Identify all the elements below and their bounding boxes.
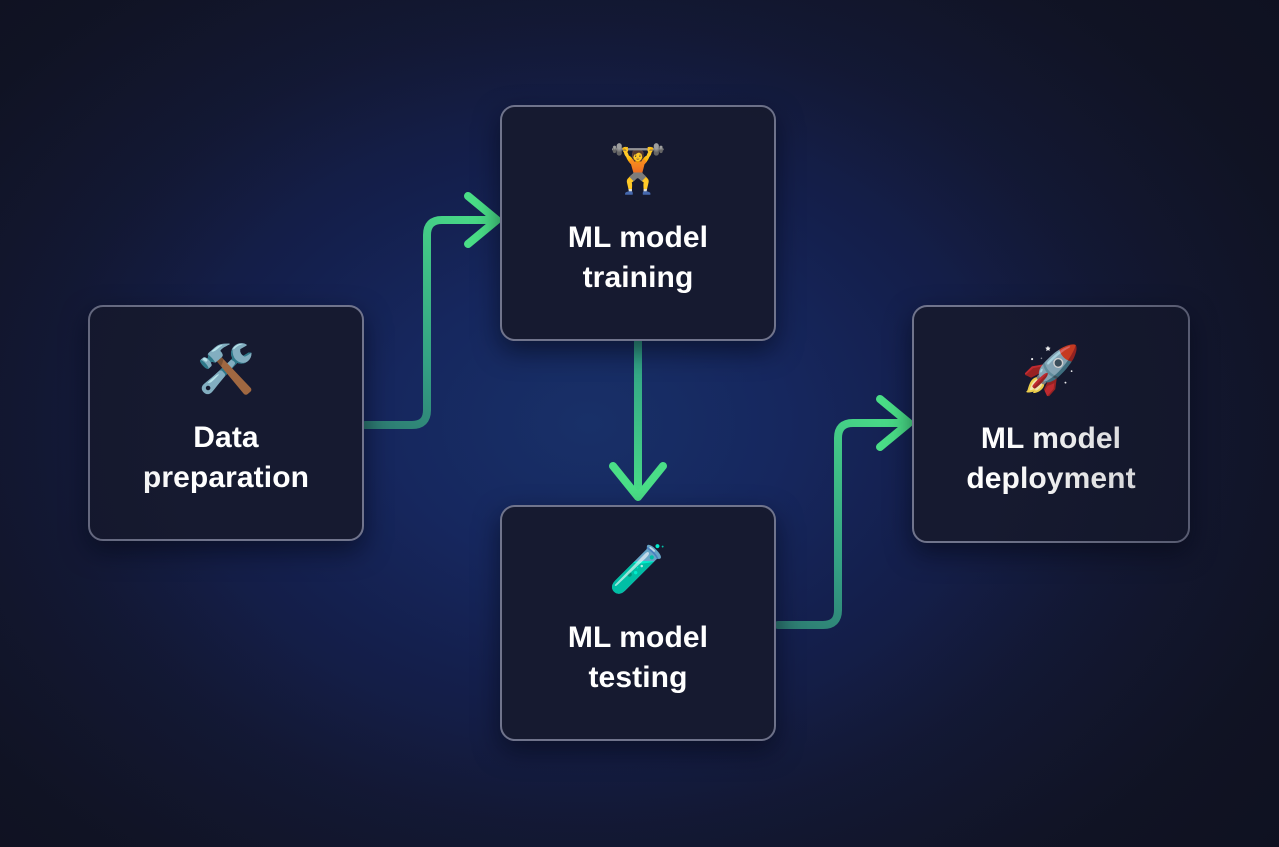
node-label: ML model training: [558, 218, 718, 298]
edge-prep-to-training: [365, 196, 497, 425]
hammer-and-wrench-icon: 🛠️: [197, 345, 256, 392]
weight-lifter-icon: 🏋️: [609, 145, 668, 192]
node-ml-model-testing[interactable]: 🧪 ML model testing: [500, 505, 776, 741]
rocket-icon: 🚀: [1022, 346, 1081, 393]
edge-testing-to-deployment: [778, 399, 909, 625]
test-tube-icon: 🧪: [609, 545, 668, 592]
edge-training-to-testing: [613, 341, 663, 497]
node-data-preparation[interactable]: 🛠️ Data preparation: [88, 305, 364, 541]
node-ml-model-training[interactable]: 🏋️ ML model training: [500, 105, 776, 341]
node-label: ML model deployment: [956, 419, 1145, 499]
node-label: ML model testing: [558, 618, 718, 698]
node-label: Data preparation: [133, 418, 319, 498]
node-ml-model-deployment[interactable]: 🚀 ML model deployment: [912, 305, 1190, 543]
diagram-canvas: 🛠️ Data preparation 🏋️ ML model training…: [0, 0, 1279, 847]
